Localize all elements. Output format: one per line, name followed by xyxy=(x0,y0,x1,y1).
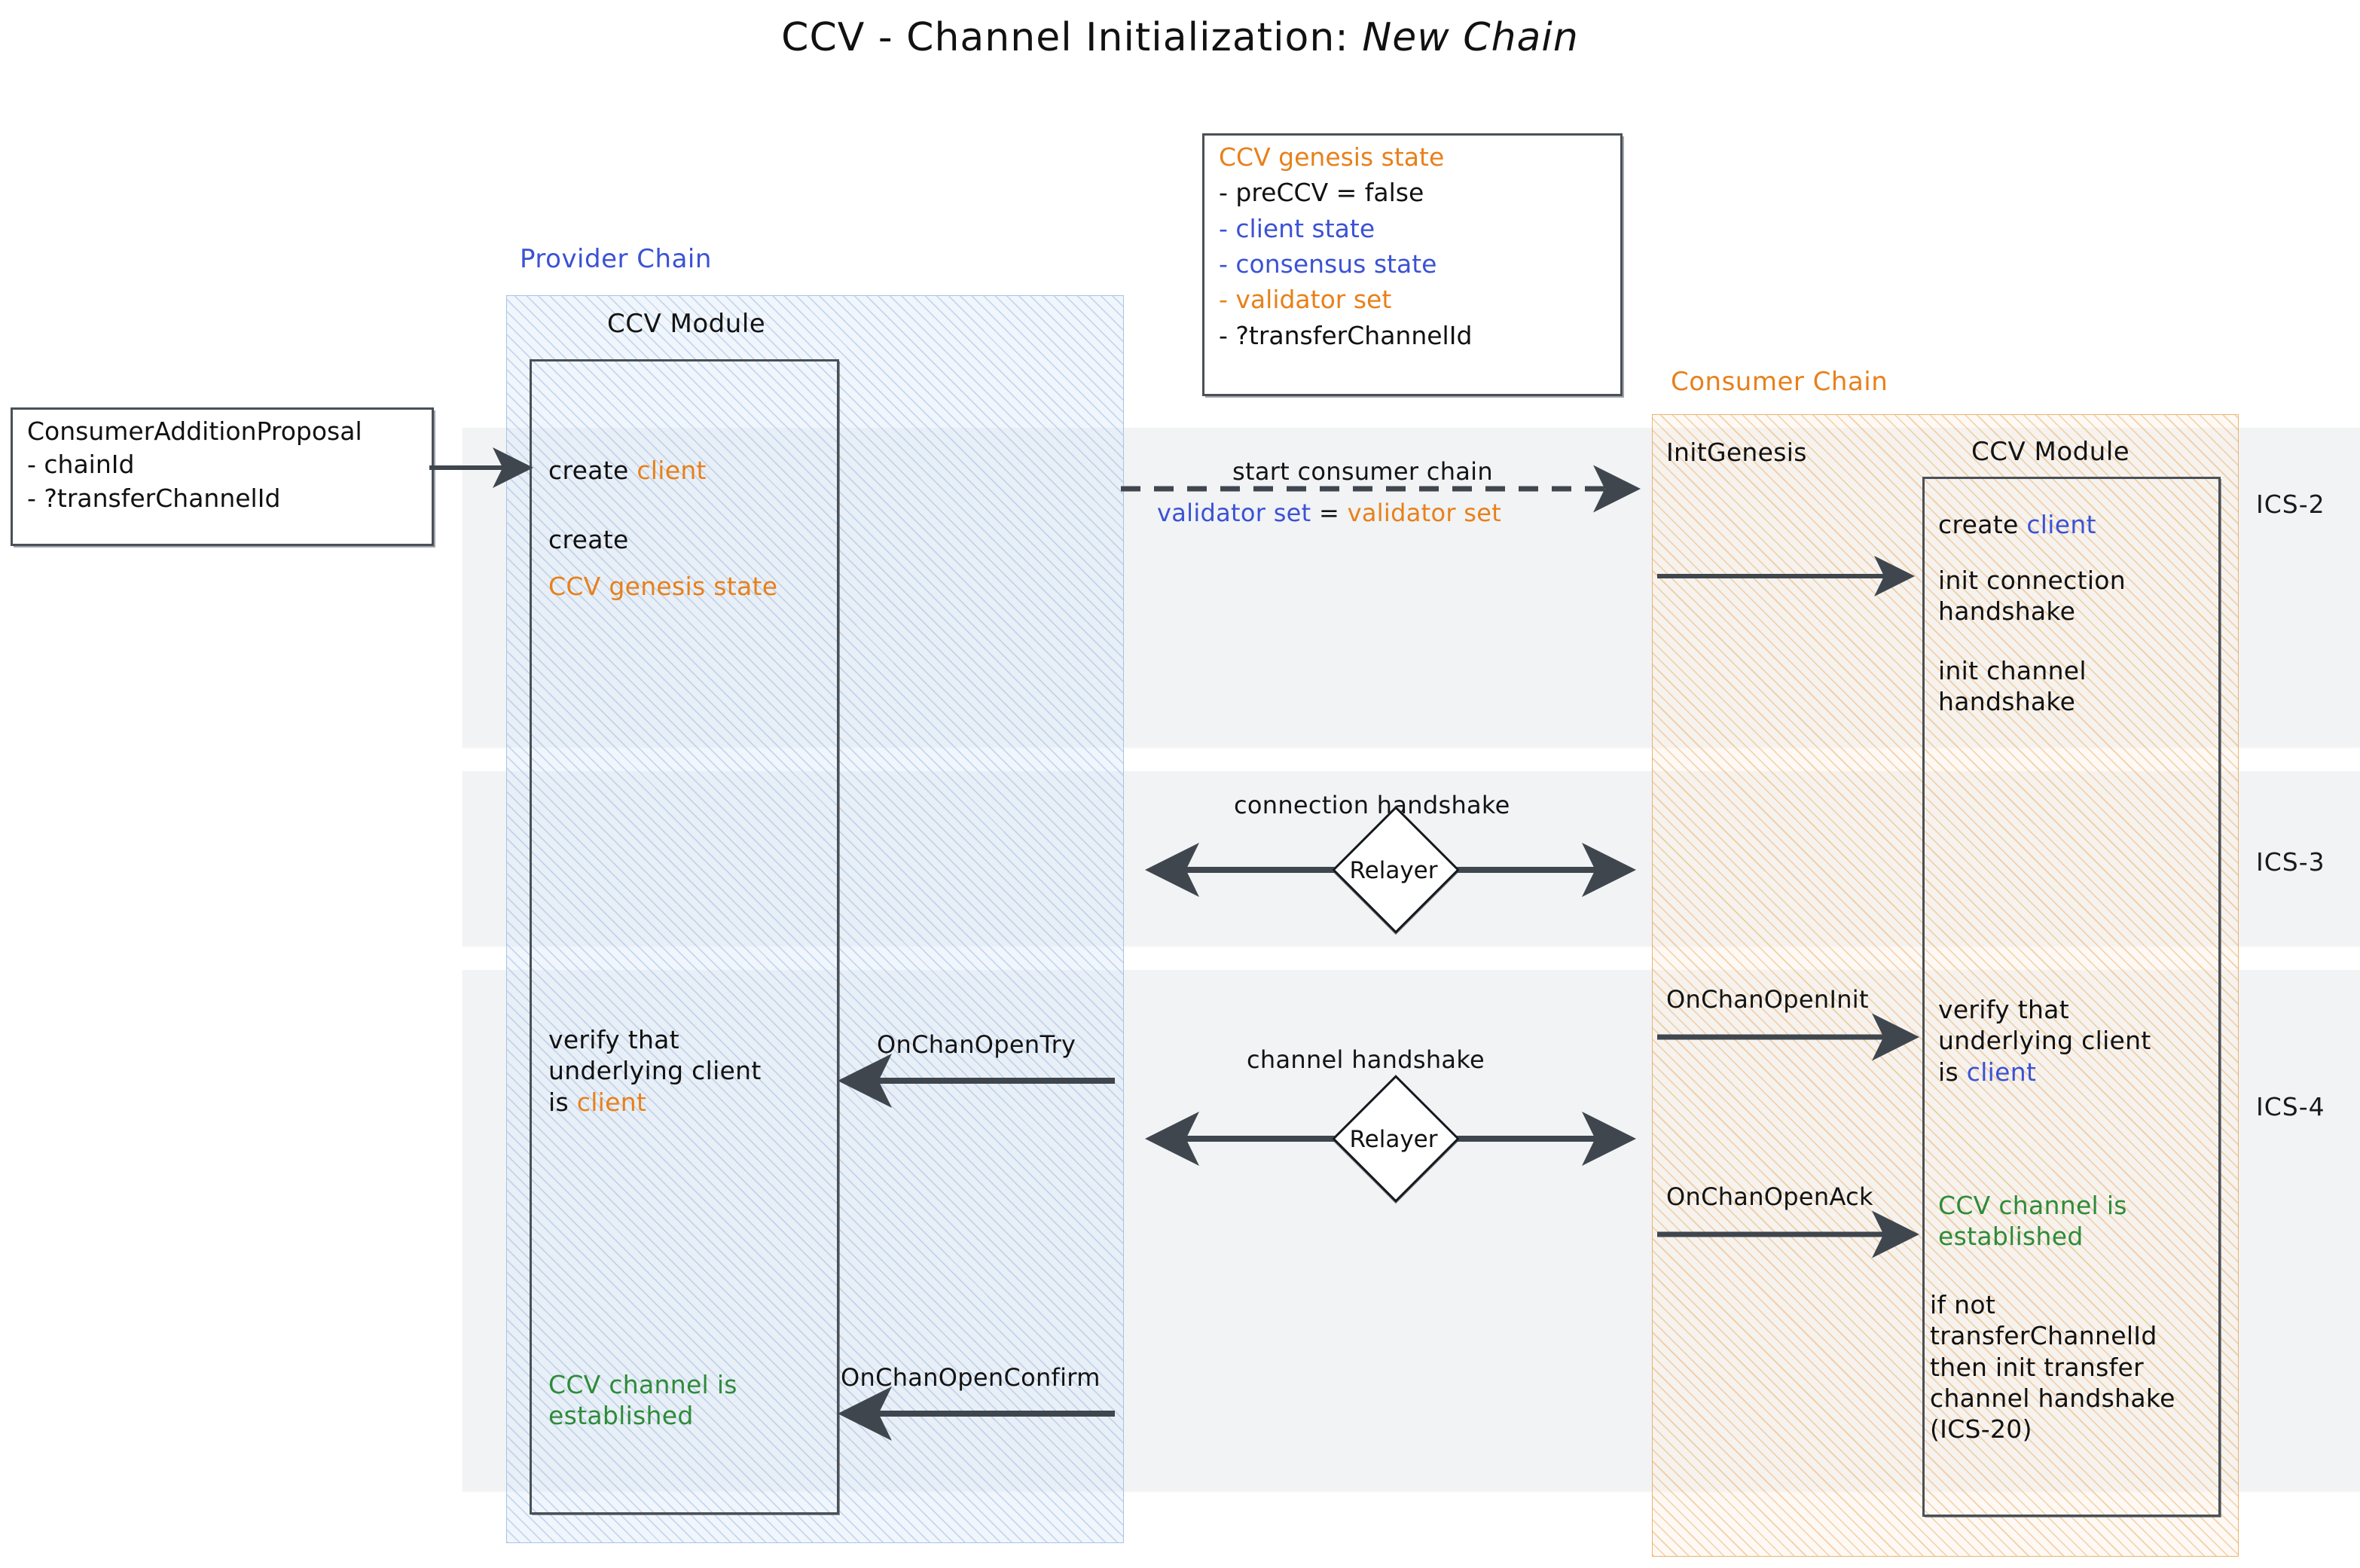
consumer-transfer-line1: if not xyxy=(1930,1289,2175,1320)
consumer-verify-line1: verify that xyxy=(1938,994,2151,1025)
consumer-init-channel-line1: init channel xyxy=(1938,655,2087,686)
provider-established-line1: CCV channel is xyxy=(548,1369,737,1400)
provider-verify-line3-plain: is xyxy=(548,1088,577,1117)
on-chan-open-try-label: OnChanOpenTry xyxy=(877,1030,1076,1059)
ics-label-2: ICS-2 xyxy=(2256,490,2325,519)
provider-verify-line3-highlight: client xyxy=(577,1088,646,1117)
provider-create-genesis: create CCV genesis state xyxy=(548,524,777,602)
provider-established-line2: established xyxy=(548,1400,737,1431)
consumer-init-channel: init channel handshake xyxy=(1938,655,2087,718)
validator-set-provider: validator set xyxy=(1157,499,1311,527)
consumer-transfer-channel-note: if not transferChannelId then init trans… xyxy=(1930,1289,2175,1444)
consumer-transfer-line4: channel handshake xyxy=(1930,1383,2175,1414)
consumer-create-client-highlight: client xyxy=(2026,510,2096,539)
consumer-transfer-line5: (ICS-20) xyxy=(1930,1414,2175,1444)
init-genesis-arrow xyxy=(1657,565,1928,595)
proposal-to-provider-arrow xyxy=(429,449,550,487)
on-chan-open-init-arrow xyxy=(1657,1026,1928,1056)
relayer-connection-label: Relayer xyxy=(1348,857,1439,884)
proposal-item-1: - ?transferChannelId xyxy=(27,486,362,511)
provider-create-client-highlight: client xyxy=(637,456,706,485)
genesis-item-1: - client state xyxy=(1219,216,1472,242)
provider-create-client: create client xyxy=(548,455,707,487)
consumer-init-connection-line2: handshake xyxy=(1938,596,2126,627)
consumer-transfer-line3: then init transfer xyxy=(1930,1352,2175,1383)
page-title-main: CCV - Channel Initialization: xyxy=(781,15,1362,60)
provider-chain-title: Provider Chain xyxy=(520,244,712,274)
consumer-ccv-channel-established: CCV channel is established xyxy=(1938,1190,2127,1252)
ics-label-3: ICS-3 xyxy=(2256,847,2325,877)
start-consumer-chain-sublabel: validator set = validator set xyxy=(1157,499,1501,527)
proposal-title: ConsumerAdditionProposal xyxy=(27,419,362,444)
page-title: CCV - Channel Initialization: New Chain xyxy=(0,15,2360,60)
validator-set-consumer: validator set xyxy=(1348,499,1502,527)
on-chan-open-confirm-label: OnChanOpenConfirm xyxy=(841,1363,1101,1392)
page-title-emphasis: New Chain xyxy=(1362,15,1578,60)
consumer-create-client: create client xyxy=(1938,509,2096,541)
provider-verify-client: verify that underlying client is client xyxy=(548,1024,762,1118)
on-chan-open-init-label: OnChanOpenInit xyxy=(1666,985,1869,1014)
genesis-title: CCV genesis state xyxy=(1219,145,1472,170)
consumer-ccv-module-title: CCV Module xyxy=(1971,437,2129,467)
consumer-verify-line3-highlight: client xyxy=(1967,1057,2036,1087)
consumer-established-line2: established xyxy=(1938,1221,2127,1252)
ccv-genesis-state-text: CCV genesis state - preCCV = false - cli… xyxy=(1219,145,1472,349)
consumer-verify-line2: underlying client xyxy=(1938,1025,2151,1056)
channel-handshake-label: channel handshake xyxy=(1247,1045,1485,1074)
validator-set-equals: = xyxy=(1311,499,1348,527)
consumer-init-genesis-label: InitGenesis xyxy=(1666,437,1807,468)
genesis-item-2: - consensus state xyxy=(1219,252,1472,277)
consumer-chain-title: Consumer Chain xyxy=(1671,367,1888,397)
genesis-item-4: - ?transferChannelId xyxy=(1219,323,1472,349)
consumer-init-connection-line1: init connection xyxy=(1938,565,2126,596)
consumer-verify-line3: is client xyxy=(1938,1057,2151,1088)
ics-label-4: ICS-4 xyxy=(2256,1092,2325,1121)
consumer-addition-proposal-text: ConsumerAdditionProposal - chainId - ?tr… xyxy=(27,419,362,511)
consumer-established-line1: CCV channel is xyxy=(1938,1190,2127,1221)
proposal-item-0: - chainId xyxy=(27,452,362,477)
provider-create-genesis-line2: CCV genesis state xyxy=(548,571,777,602)
on-chan-open-confirm-arrow xyxy=(836,1402,1137,1432)
consumer-init-connection: init connection handshake xyxy=(1938,565,2126,627)
provider-ccv-channel-established: CCV channel is established xyxy=(548,1369,737,1432)
consumer-verify-client: verify that underlying client is client xyxy=(1938,994,2151,1088)
on-chan-open-try-arrow xyxy=(836,1069,1137,1100)
consumer-verify-line3-plain: is xyxy=(1938,1057,1967,1087)
relayer-channel-label: Relayer xyxy=(1348,1126,1439,1153)
provider-create-genesis-line1: create xyxy=(548,524,777,556)
provider-verify-line3: is client xyxy=(548,1087,762,1118)
connection-handshake-label: connection handshake xyxy=(1234,791,1510,819)
on-chan-open-ack-label: OnChanOpenAck xyxy=(1666,1182,1873,1211)
consumer-create-client-plain: create xyxy=(1938,510,2026,539)
genesis-item-3: - validator set xyxy=(1219,287,1472,313)
provider-ccv-module-title: CCV Module xyxy=(607,309,765,339)
provider-create-client-plain: create xyxy=(548,456,637,485)
genesis-item-0: - preCCV = false xyxy=(1219,180,1472,206)
provider-verify-line2: underlying client xyxy=(548,1055,762,1086)
on-chan-open-ack-arrow xyxy=(1657,1223,1928,1253)
consumer-init-channel-line2: handshake xyxy=(1938,686,2087,717)
provider-verify-line1: verify that xyxy=(548,1024,762,1055)
consumer-transfer-line2: transferChannelId xyxy=(1930,1320,2175,1351)
